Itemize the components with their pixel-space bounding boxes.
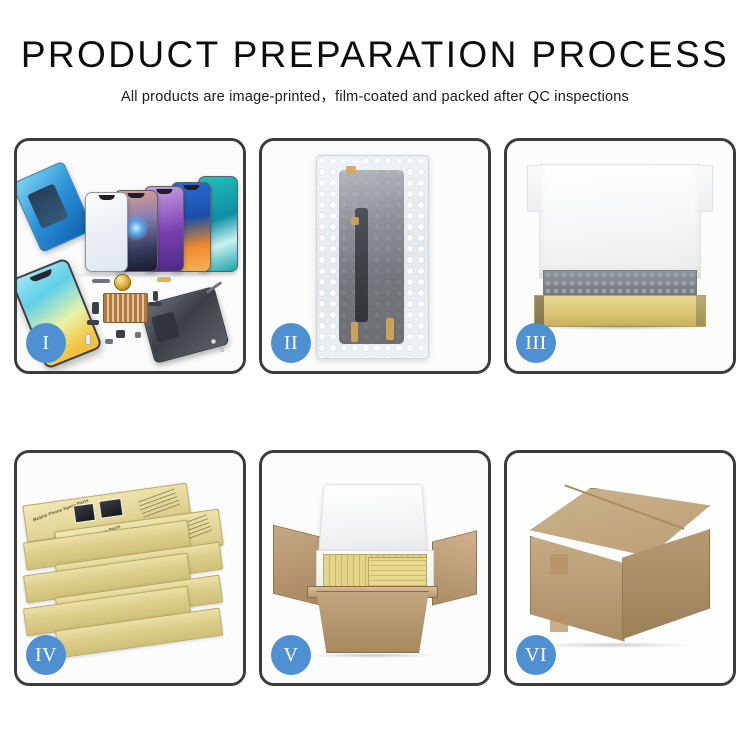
- gold-tab: [351, 322, 359, 342]
- spare-part: [87, 320, 99, 325]
- step-badge-3: III: [516, 323, 556, 363]
- white-foam-lid: [539, 164, 702, 279]
- page-subtitle: All products are image-printed，film-coat…: [0, 85, 750, 106]
- step-badge-4: IV: [26, 635, 66, 675]
- step-badge-2: II: [271, 323, 311, 363]
- page-title: PRODUCT PREPARATION PROCESS: [0, 36, 750, 75]
- step-panel-3: III: [504, 138, 736, 374]
- foam-lid: [318, 484, 428, 556]
- step-panel-2: II: [259, 138, 491, 374]
- gold-tab: [346, 166, 356, 174]
- spare-part: [157, 277, 171, 282]
- chip-grid-component: [103, 293, 148, 323]
- phone-screen-fan: [80, 162, 238, 272]
- carton-flap-right: [432, 530, 477, 606]
- yellow-box-base: [534, 295, 706, 327]
- carton-body: [312, 591, 434, 653]
- product-preparation-process-page: PRODUCT PREPARATION PROCESS All products…: [0, 0, 750, 750]
- antistatic-foam: [543, 270, 697, 298]
- phone-screen-1: [85, 192, 128, 272]
- spare-part: [85, 334, 91, 345]
- process-steps-grid: I II: [14, 138, 736, 686]
- header: PRODUCT PREPARATION PROCESS All products…: [0, 0, 750, 106]
- gold-tab: [386, 318, 394, 340]
- step-badge-6: VI: [516, 635, 556, 675]
- spare-part: [153, 291, 158, 301]
- step-badge-1: I: [26, 323, 66, 363]
- step-badge-5: V: [271, 635, 311, 675]
- step-panel-6: VI: [504, 450, 736, 686]
- spare-part: [92, 302, 99, 314]
- spare-part: [135, 332, 141, 338]
- wrapped-part: [339, 170, 403, 344]
- tape-strip: [550, 614, 568, 632]
- step-panel-4: Mobile Phone Spare Parts Mobile Phone Sp…: [14, 450, 246, 686]
- spare-part: [92, 279, 110, 283]
- tape-strip: [550, 554, 568, 575]
- flex-cable: [355, 208, 368, 322]
- step-panel-1: I: [14, 138, 246, 374]
- bubble-wrap-bag: [316, 155, 429, 360]
- step-panel-5: V: [259, 450, 491, 686]
- gold-tab: [351, 217, 360, 225]
- spare-part: [105, 339, 113, 344]
- spare-part: [116, 330, 125, 338]
- spare-part: [148, 302, 162, 306]
